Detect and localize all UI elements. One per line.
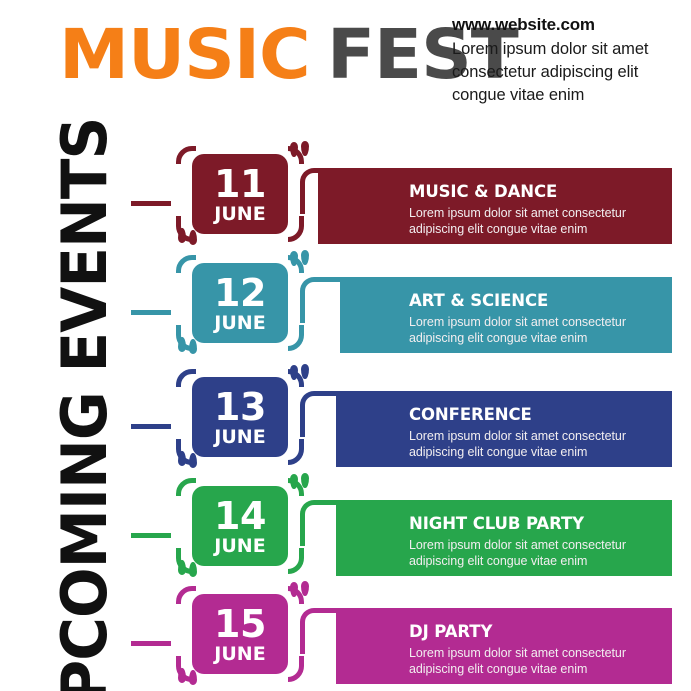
event-row[interactable]: 12 JUNE ART & SCIENCE Lorem ipsum dolor … bbox=[0, 249, 691, 357]
frame-notch-bottom bbox=[196, 675, 288, 689]
frame-notch-left bbox=[171, 496, 183, 548]
teardrop-icon bbox=[189, 339, 197, 354]
event-row[interactable]: 13 JUNE CONFERENCE Lorem ipsum dolor sit… bbox=[0, 363, 691, 471]
teardrop-icon bbox=[178, 560, 186, 575]
teardrop-icon bbox=[189, 453, 197, 468]
event-info-bar[interactable]: NIGHT CLUB PARTY Lorem ipsum dolor sit a… bbox=[336, 500, 672, 576]
frame-notch-top bbox=[196, 141, 288, 153]
website-url[interactable]: www.website.com bbox=[452, 14, 688, 36]
teardrop-icon bbox=[189, 562, 197, 577]
frame-notch-bottom bbox=[196, 567, 288, 581]
teardrop-icon bbox=[178, 668, 186, 683]
frame-notch-bottom bbox=[196, 235, 288, 249]
event-date-card[interactable]: 14 JUNE bbox=[192, 486, 288, 566]
event-description: Lorem ipsum dolor sit amet consectetur a… bbox=[409, 428, 672, 460]
event-day: 14 bbox=[214, 498, 266, 535]
frame-notch-left bbox=[171, 164, 183, 216]
event-description: Lorem ipsum dolor sit amet consectetur a… bbox=[409, 314, 672, 346]
event-title: DJ PARTY bbox=[409, 621, 672, 642]
brand-logo: MUSIC FEST bbox=[59, 20, 514, 90]
poster-canvas: MUSIC FEST www.website.com Lorem ipsum d… bbox=[0, 0, 691, 691]
header-tagline: Lorem ipsum dolor sit amet consectetur a… bbox=[452, 38, 688, 107]
event-description: Lorem ipsum dolor sit amet consectetur a… bbox=[409, 537, 672, 569]
event-day: 15 bbox=[214, 606, 266, 643]
frame-notch-bottom bbox=[196, 344, 288, 358]
frame-notch-top bbox=[196, 250, 288, 262]
event-row[interactable]: 14 JUNE NIGHT CLUB PARTY Lorem ipsum dol… bbox=[0, 472, 691, 580]
frame-notch-top bbox=[196, 364, 288, 376]
event-date-card[interactable]: 12 JUNE bbox=[192, 263, 288, 343]
event-row[interactable]: 11 JUNE MUSIC & DANCE Lorem ipsum dolor … bbox=[0, 140, 691, 248]
event-row[interactable]: 15 JUNE DJ PARTY Lorem ipsum dolor sit a… bbox=[0, 580, 691, 688]
teardrop-icon bbox=[189, 670, 197, 685]
event-month: JUNE bbox=[214, 427, 265, 447]
event-month: JUNE bbox=[214, 313, 265, 333]
event-info-bar[interactable]: ART & SCIENCE Lorem ipsum dolor sit amet… bbox=[340, 277, 672, 353]
frame-notch-top bbox=[196, 581, 288, 593]
teardrop-icon bbox=[178, 228, 186, 243]
header-text-block: www.website.com Lorem ipsum dolor sit am… bbox=[452, 14, 688, 107]
poster-header: MUSIC FEST www.website.com Lorem ipsum d… bbox=[0, 0, 691, 128]
frame-notch-bottom bbox=[196, 458, 288, 472]
event-month: JUNE bbox=[214, 204, 265, 224]
logo-word-music: MUSIC bbox=[59, 20, 310, 90]
event-info-bar[interactable]: CONFERENCE Lorem ipsum dolor sit amet co… bbox=[336, 391, 672, 467]
frame-notch-left bbox=[171, 604, 183, 656]
frame-notch-left bbox=[171, 273, 183, 325]
event-day: 12 bbox=[214, 275, 266, 312]
event-month: JUNE bbox=[214, 536, 265, 556]
event-info-bar[interactable]: DJ PARTY Lorem ipsum dolor sit amet cons… bbox=[336, 608, 672, 684]
teardrop-icon bbox=[189, 230, 197, 245]
event-title: MUSIC & DANCE bbox=[409, 181, 672, 202]
frame-notch-top bbox=[196, 473, 288, 485]
event-date-card[interactable]: 15 JUNE bbox=[192, 594, 288, 674]
teardrop-icon bbox=[178, 451, 186, 466]
event-date-card[interactable]: 11 JUNE bbox=[192, 154, 288, 234]
frame-notch-left bbox=[171, 387, 183, 439]
event-description: Lorem ipsum dolor sit amet consectetur a… bbox=[409, 205, 672, 237]
event-description: Lorem ipsum dolor sit amet consectetur a… bbox=[409, 645, 672, 677]
event-day: 13 bbox=[214, 389, 266, 426]
event-title: NIGHT CLUB PARTY bbox=[409, 513, 672, 534]
event-day: 11 bbox=[214, 166, 266, 203]
event-title: CONFERENCE bbox=[409, 404, 672, 425]
teardrop-icon bbox=[178, 337, 186, 352]
event-title: ART & SCIENCE bbox=[409, 290, 672, 311]
event-month: JUNE bbox=[214, 644, 265, 664]
event-info-bar[interactable]: MUSIC & DANCE Lorem ipsum dolor sit amet… bbox=[318, 168, 672, 244]
event-date-card[interactable]: 13 JUNE bbox=[192, 377, 288, 457]
